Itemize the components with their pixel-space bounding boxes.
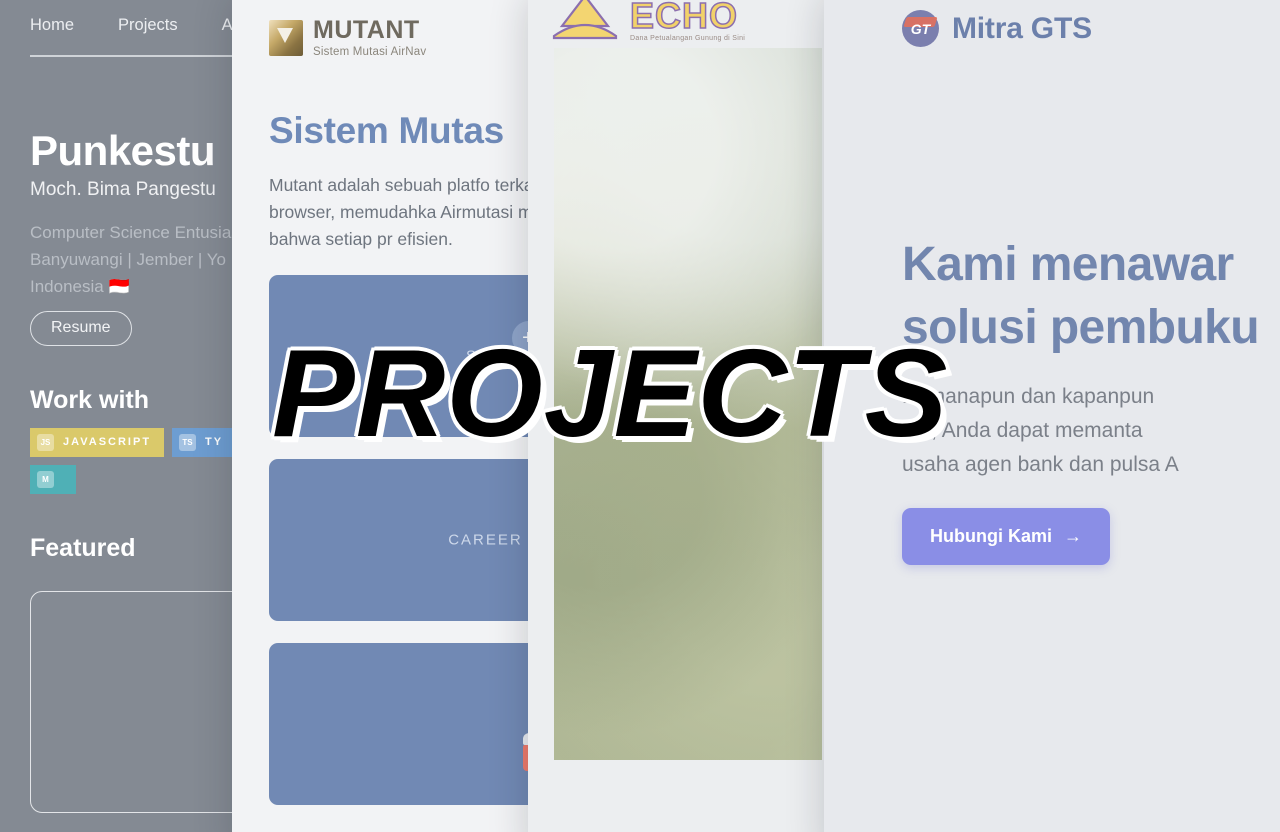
bio-line-2: Banyuwangi | Jember | Yo: [30, 246, 232, 273]
javascript-icon: JS: [37, 434, 54, 451]
gts-paragraph-line-3: usaha agen bank dan pulsa A: [902, 448, 1280, 482]
gts-mark-icon: GT: [902, 10, 939, 47]
mutant-tile-1[interactable]: S R ITO +: [269, 275, 528, 437]
nav-item-home[interactable]: Home: [30, 16, 74, 35]
author-bio: Computer Science Entusias Banyuwangi | J…: [30, 219, 232, 301]
bio-line-3: Indonesia 🇮🇩: [30, 273, 232, 300]
nav-divider: [30, 55, 232, 57]
tech-badge-typescript[interactable]: TS TY: [172, 428, 232, 457]
project-card-mutant[interactable]: MUTANT Sistem Mutasi AirNav Sistem Mutas…: [232, 0, 528, 832]
mutant-heading: Sistem Mutas: [269, 110, 528, 152]
mutant-logo: MUTANT Sistem Mutasi AirNav: [269, 18, 528, 58]
featured-heading: Featured: [30, 534, 232, 563]
gts-heading-line-2: solusi pembuku: [902, 296, 1280, 359]
mutant-tile-3[interactable]: [269, 643, 528, 805]
author-name: Moch. Bima Pangestu: [30, 179, 232, 201]
echo-logo-tagline: Dana Petualangan Gunung di Sini: [630, 35, 745, 42]
tech-badge-javascript[interactable]: JS JAVASCRIPT: [30, 428, 164, 457]
gts-paragraph-line-1: Di manapun dan kapanpun: [902, 380, 1280, 414]
tech-badge-extra[interactable]: M: [30, 465, 76, 494]
echo-logo-word: ECHO: [630, 0, 745, 33]
project-card-mitra-gts[interactable]: GT Mitra GTS Kami menawar solusi pembuku…: [824, 0, 1280, 832]
tech-badge-label: JAVASCRIPT: [63, 436, 151, 448]
bio-line-1: Computer Science Entusias: [30, 219, 232, 246]
mutant-tile-2[interactable]: CAREER PA: [269, 459, 528, 621]
echo-logo: ECHO Dana Petualangan Gunung di Sini: [548, 0, 824, 42]
echo-hero-photo: [554, 48, 822, 760]
mutant-logo-word: MUTANT: [313, 18, 426, 43]
gts-mark-text: GT: [911, 21, 930, 37]
work-with-heading: Work with: [30, 386, 232, 415]
gts-logo: GT Mitra GTS: [902, 10, 1280, 47]
hubungi-kami-label: Hubungi Kami: [930, 526, 1052, 547]
gts-paragraph: Di manapun dan kapanpun net, Anda dapat …: [902, 380, 1280, 483]
resume-button[interactable]: Resume: [30, 311, 132, 346]
gts-logo-word: Mitra GTS: [952, 12, 1092, 46]
mutant-logo-tagline: Sistem Mutasi AirNav: [313, 46, 426, 58]
tool-icon: M: [37, 471, 54, 488]
mutant-tile-2-label: CAREER PA: [269, 532, 528, 549]
main-nav: Home Projects Ap: [30, 0, 232, 35]
screenshot-root: Home Projects Ap Punkestu Moch. Bima Pan…: [0, 0, 1280, 832]
mutant-paragraph: Mutant adalah sebuah platfo terkait rota…: [269, 172, 528, 253]
gts-heading: Kami menawar solusi pembuku: [902, 233, 1280, 360]
featured-card[interactable]: [30, 591, 232, 813]
nav-item-projects[interactable]: Projects: [118, 16, 178, 35]
tech-badge-label: TY: [205, 436, 223, 448]
mountain-icon: [548, 0, 622, 42]
gts-heading-line-1: Kami menawar: [902, 233, 1280, 296]
project-card-echo[interactable]: ECHO Dana Petualangan Gunung di Sini: [528, 0, 824, 832]
hubungi-kami-button[interactable]: Hubungi Kami →: [902, 508, 1110, 565]
arrow-right-icon: →: [1064, 526, 1082, 547]
mutant-tile-1-label: S R ITO: [269, 348, 528, 365]
page-title: Punkestu: [30, 129, 232, 173]
portfolio-sidebar: Home Projects Ap Punkestu Moch. Bima Pan…: [0, 0, 232, 832]
typescript-icon: TS: [179, 434, 196, 451]
mutant-mark-icon: [269, 20, 303, 56]
tech-badge-list: JS JAVASCRIPT TS TY ⚛ REACT ◆ GIT M: [30, 428, 232, 494]
nav-item-apps[interactable]: Ap: [222, 16, 232, 35]
gts-paragraph-line-2: net, Anda dapat memanta: [902, 414, 1280, 448]
